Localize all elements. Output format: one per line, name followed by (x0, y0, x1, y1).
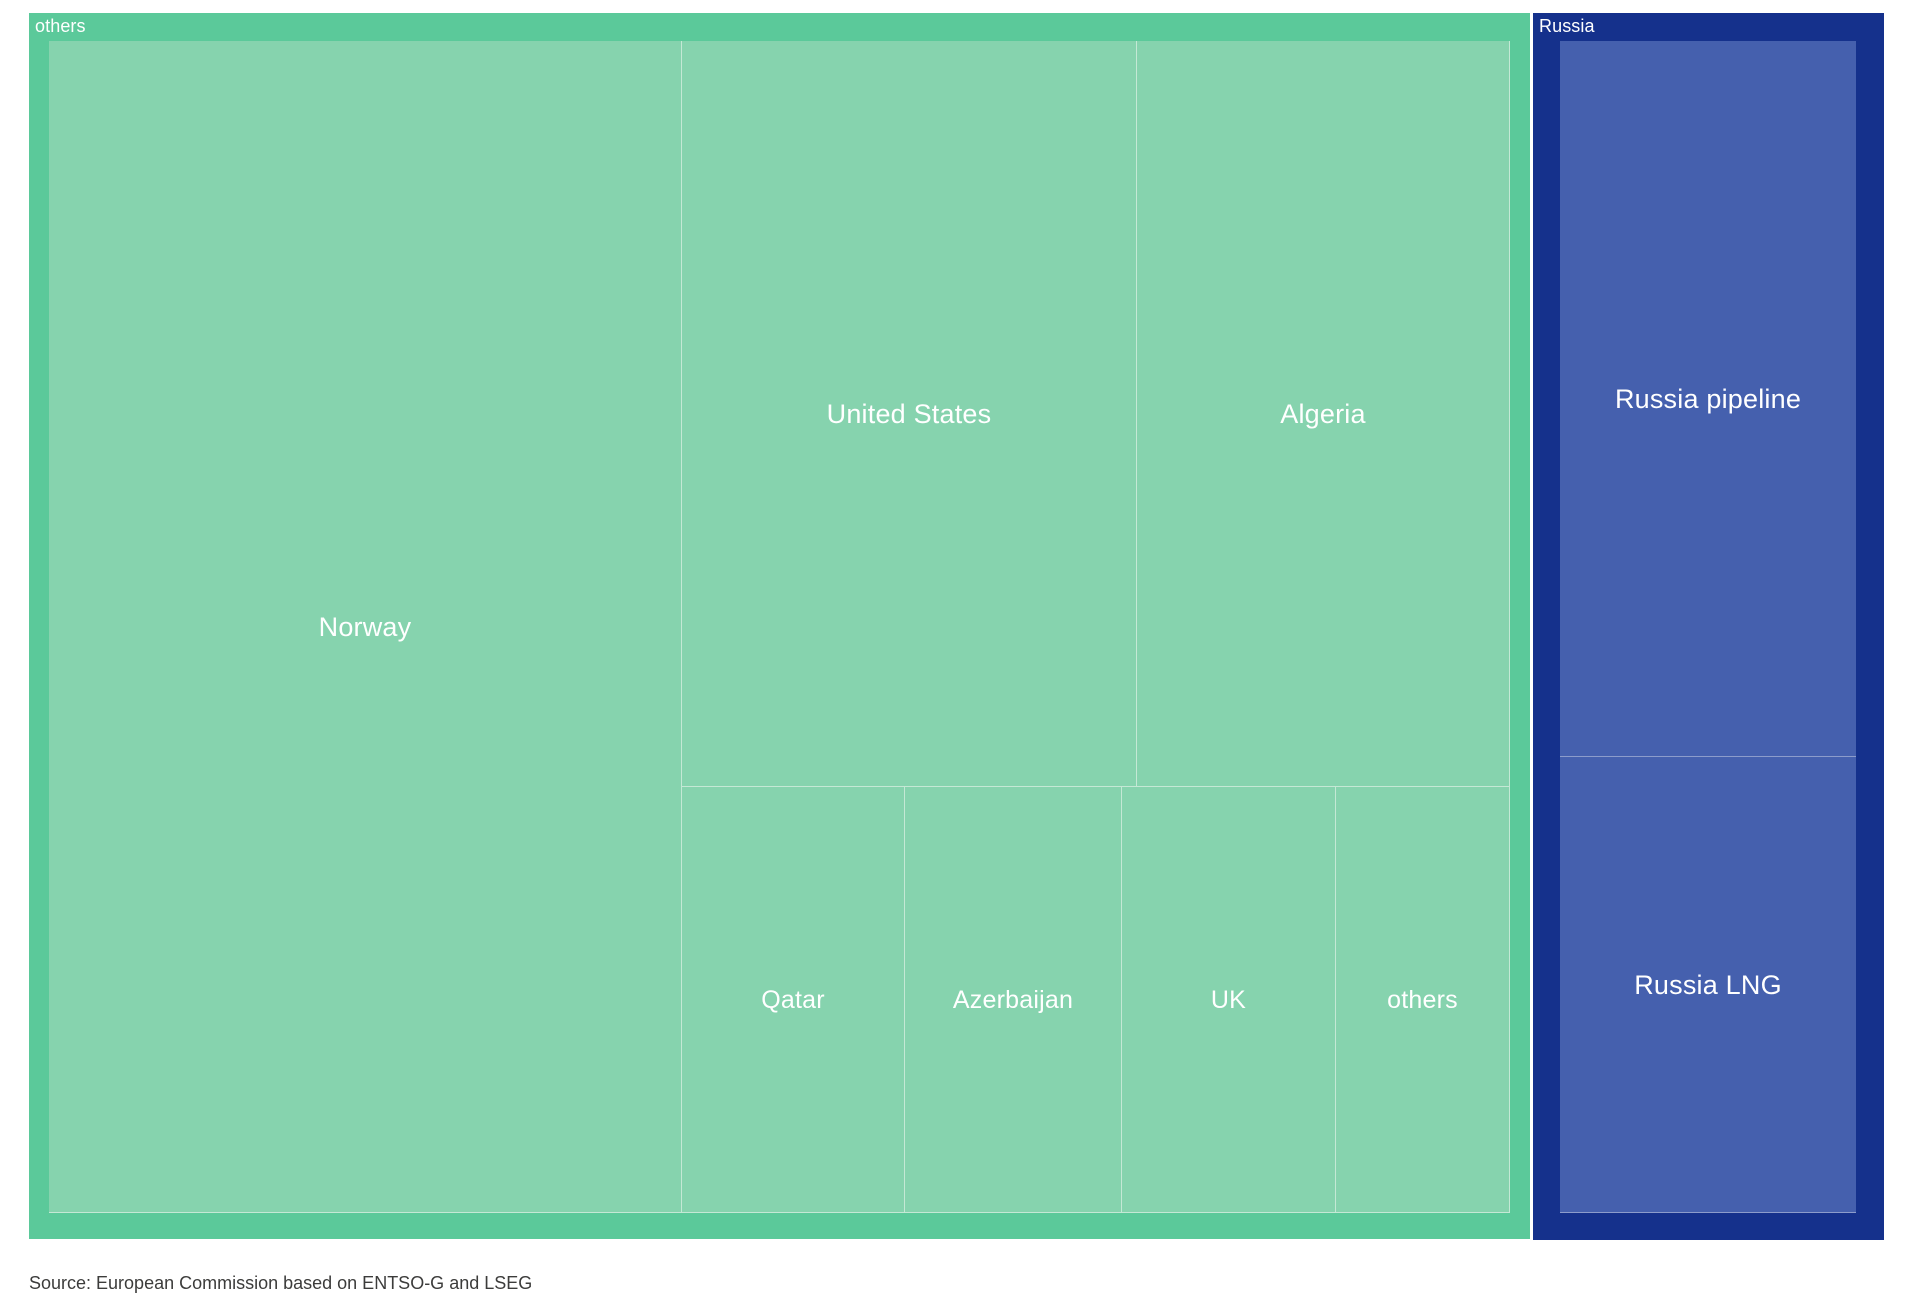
treemap-tile-algeria-label: Algeria (1280, 398, 1365, 430)
treemap-tile-norway-label: Norway (319, 611, 412, 643)
treemap-tile-russia-pipeline-label: Russia pipeline (1615, 383, 1801, 415)
treemap-tile-uk-label: UK (1211, 984, 1246, 1016)
treemap-group-russia[interactable]: Russia Russia pipeline Russia LNG (1533, 13, 1884, 1240)
treemap-tile-russia-lng[interactable]: Russia LNG (1560, 757, 1856, 1213)
treemap-tile-uk[interactable]: UK (1122, 787, 1336, 1213)
treemap-tile-others-label: others (1387, 984, 1458, 1016)
treemap-tile-qatar-label: Qatar (761, 984, 825, 1016)
treemap-chart: others Norway United States Algeria Qata… (0, 0, 1920, 1310)
treemap-group-russia-label: Russia (1539, 15, 1595, 37)
treemap-group-others-label: others (35, 15, 86, 37)
treemap-tile-united-states[interactable]: United States (682, 41, 1137, 787)
treemap-tile-united-states-label: United States (827, 398, 992, 430)
source-caption: Source: European Commission based on ENT… (29, 1272, 532, 1294)
treemap-tile-qatar[interactable]: Qatar (682, 787, 905, 1213)
treemap-group-others[interactable]: others Norway United States Algeria Qata… (29, 13, 1530, 1239)
treemap-tile-russia-pipeline[interactable]: Russia pipeline (1560, 41, 1856, 757)
treemap-tile-azerbaijan[interactable]: Azerbaijan (905, 787, 1122, 1213)
treemap-tile-others[interactable]: others (1336, 787, 1510, 1213)
treemap-tile-norway[interactable]: Norway (49, 41, 682, 1213)
treemap-tile-azerbaijan-label: Azerbaijan (953, 984, 1073, 1016)
treemap-tile-russia-lng-label: Russia LNG (1634, 969, 1782, 1001)
treemap-tile-algeria[interactable]: Algeria (1137, 41, 1510, 787)
